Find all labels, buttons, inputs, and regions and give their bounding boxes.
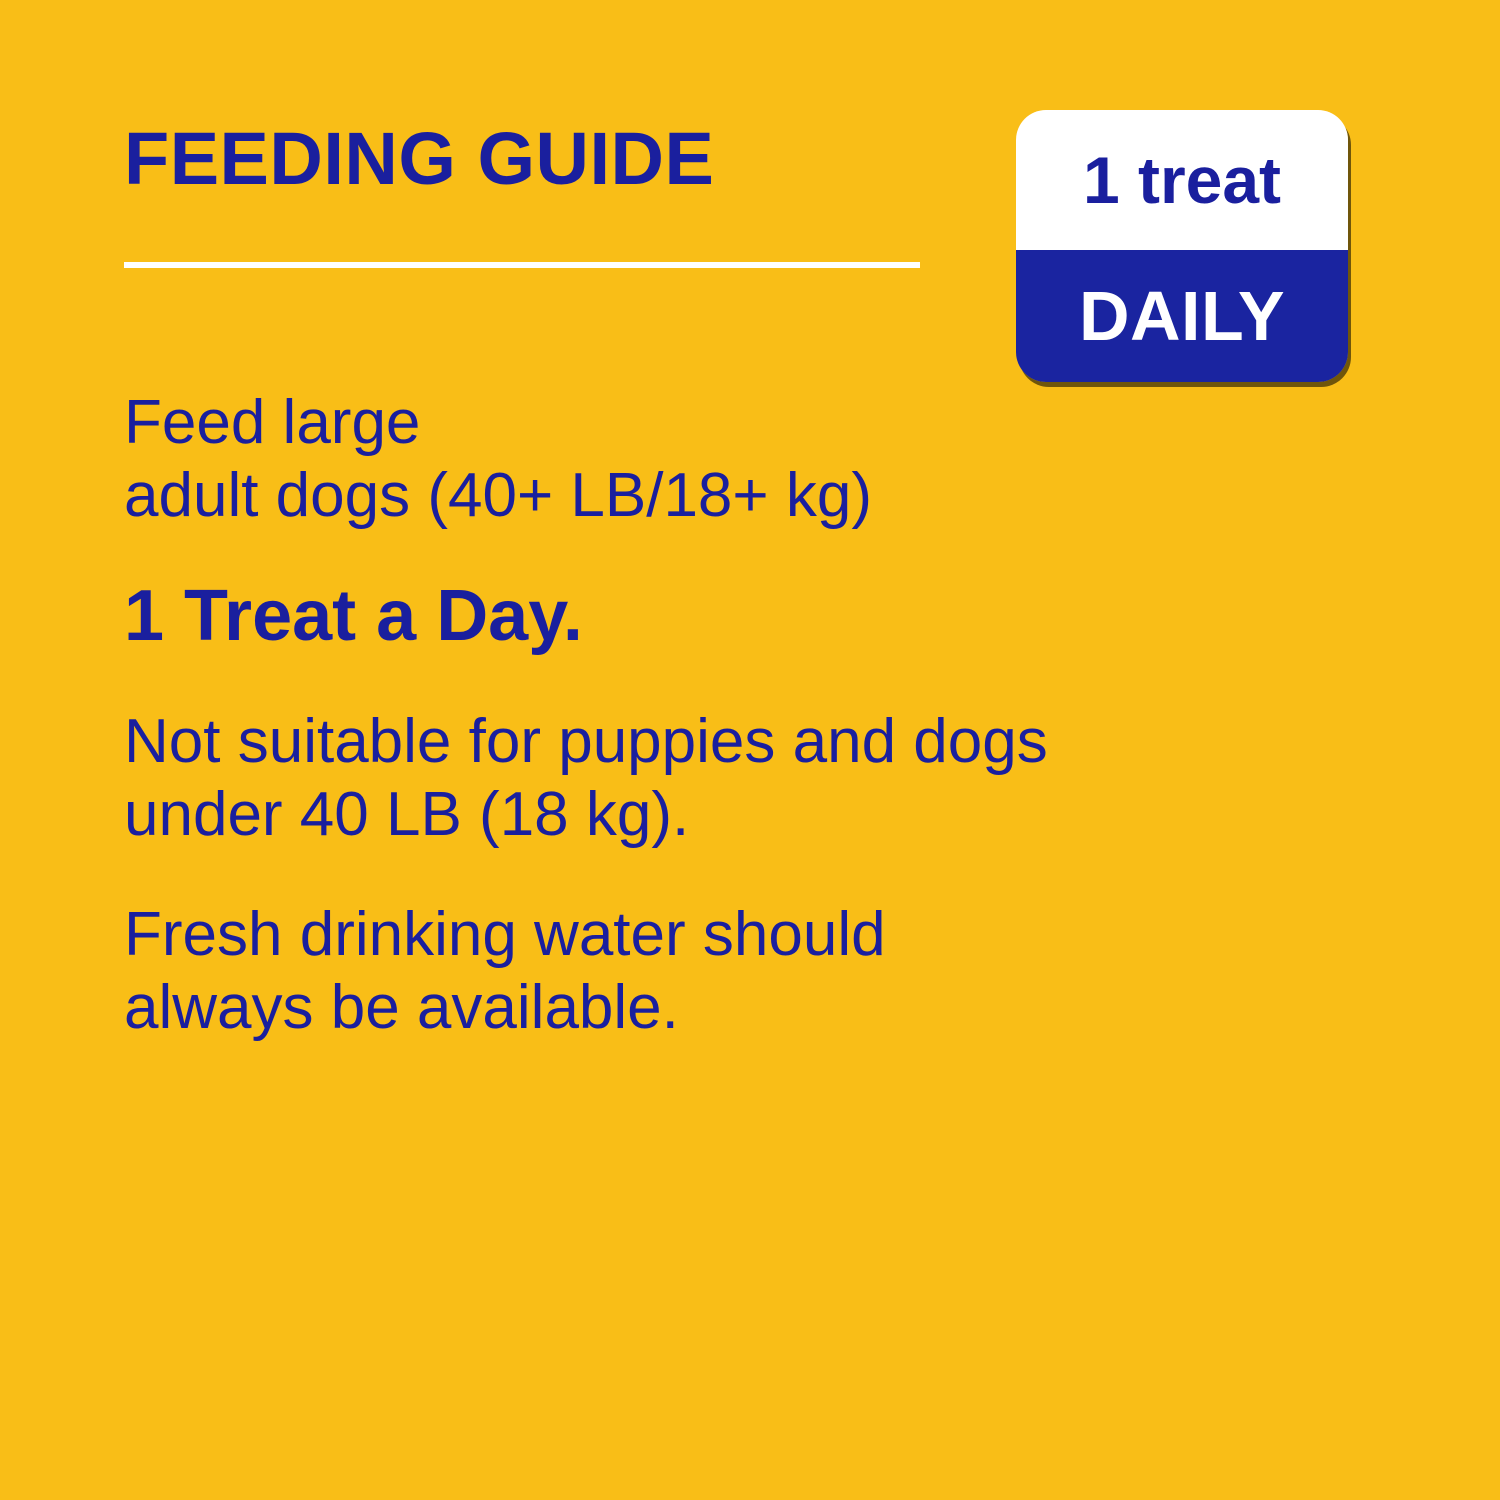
badge-top-section: 1 treat: [1016, 110, 1348, 250]
feeding-audience-text: Feed large adult dogs (40+ LB/18+ kg): [124, 386, 1424, 532]
daily-dosage-badge: 1 treat DAILY: [1016, 110, 1348, 382]
feeding-restriction-text: Not suitable for puppies and dogs under …: [124, 705, 1424, 851]
feeding-amount-headline: 1 Treat a Day.: [124, 574, 1424, 659]
header-row: FEEDING GUIDE 1 treat DAILY: [0, 0, 1500, 400]
badge-treat-count-label: 1 treat: [1083, 147, 1281, 213]
fresh-water-text: Fresh drinking water should always be av…: [124, 898, 1424, 1044]
badge-bottom-section: DAILY: [1016, 250, 1348, 382]
page-title: FEEDING GUIDE: [124, 122, 714, 196]
feeding-guide-panel: FEEDING GUIDE 1 treat DAILY Feed large a…: [0, 0, 1500, 1500]
title-divider: [124, 262, 920, 268]
badge-frequency-label: DAILY: [1079, 281, 1285, 351]
feeding-instructions: Feed large adult dogs (40+ LB/18+ kg) 1 …: [124, 386, 1424, 1044]
